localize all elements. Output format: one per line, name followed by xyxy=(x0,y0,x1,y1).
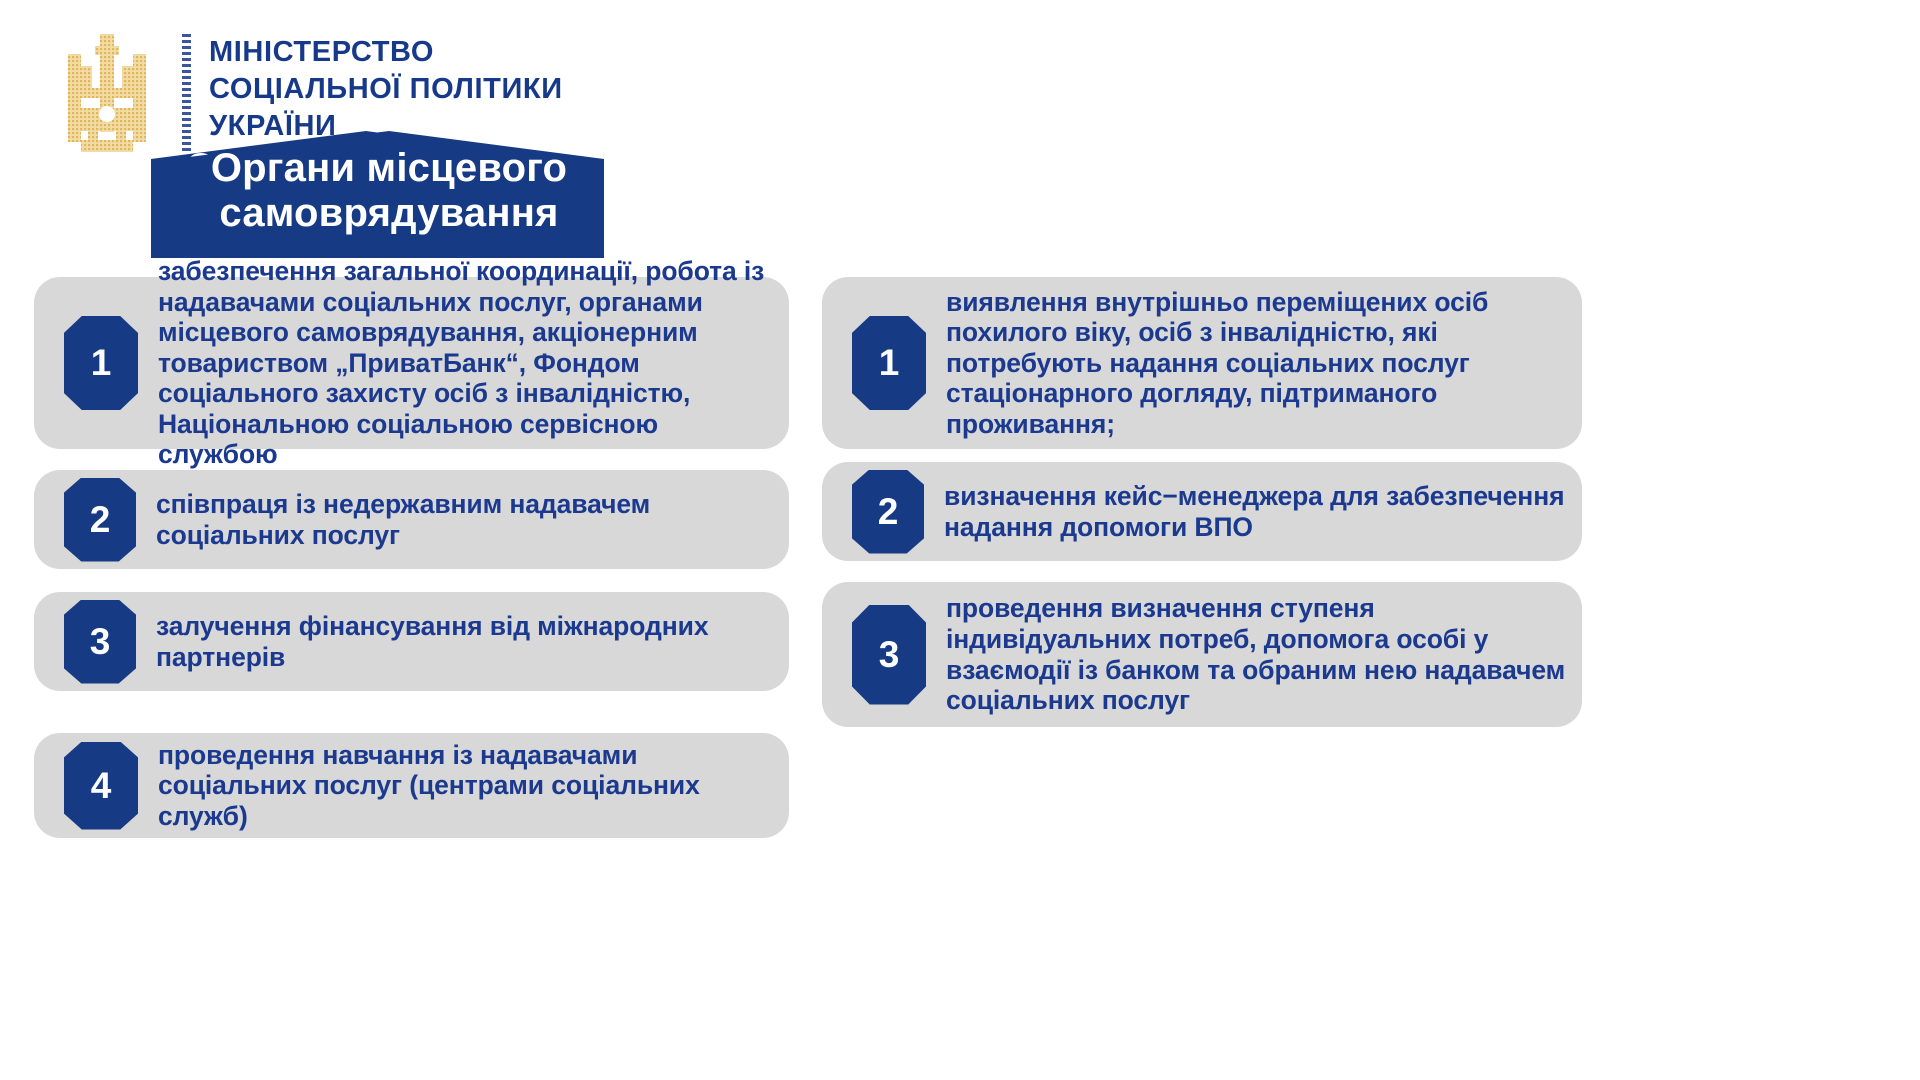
list-item: 2 визначення кейс−менеджера для забезпеч… xyxy=(822,462,1582,561)
list-item: 1 виявлення внутрішньо переміщених осіб … xyxy=(822,277,1582,449)
list-item: 2 співпраця із недержавним надавачем соц… xyxy=(34,470,789,569)
item-text: виявлення внутрішньо переміщених осіб по… xyxy=(946,287,1568,440)
logo-divider xyxy=(182,34,191,152)
list-item: 1 забезпечення загальної координації, ро… xyxy=(34,277,789,449)
item-text: співпраця із недержавним надавачем соціа… xyxy=(156,489,775,550)
logo-line-2: СОЦІАЛЬНОЇ ПОЛІТИКИ xyxy=(209,71,563,108)
item-number-badge: 2 xyxy=(64,478,136,562)
logo-text: МІНІСТЕРСТВО СОЦІАЛЬНОЇ ПОЛІТИКИ УКРАЇНИ xyxy=(209,34,563,145)
item-text: проведення навчання із надавачами соціал… xyxy=(158,740,775,832)
item-number-badge: 4 xyxy=(64,742,138,830)
ministry-logo: МІНІСТЕРСТВО СОЦІАЛЬНОЇ ПОЛІТИКИ УКРАЇНИ xyxy=(48,28,563,156)
item-number-badge: 1 xyxy=(64,316,138,410)
item-number-badge: 1 xyxy=(852,316,926,410)
item-text: визначення кейс−менеджера для забезпечен… xyxy=(944,481,1568,542)
item-number-badge: 3 xyxy=(64,600,136,684)
item-text: забезпечення загальної координації, робо… xyxy=(158,256,775,470)
item-number-badge: 2 xyxy=(852,470,924,554)
item-text: проведення визначення ступеня індивідуал… xyxy=(946,593,1568,715)
list-item: 3 проведення визначення ступеня індивіду… xyxy=(822,582,1582,727)
item-text: залучення фінансування від міжнародних п… xyxy=(156,611,775,672)
banner-right-line-1: Органи місцевого xyxy=(192,146,586,191)
logo-line-1: МІНІСТЕРСТВО xyxy=(209,34,563,71)
list-item: 4 проведення навчання із надавачами соці… xyxy=(34,733,789,838)
ukraine-trident-emblem xyxy=(48,28,166,156)
banner-right-line-2: самоврядування xyxy=(192,191,586,236)
item-number-badge: 3 xyxy=(852,605,926,705)
list-item: 3 залучення фінансування від міжнародних… xyxy=(34,592,789,691)
